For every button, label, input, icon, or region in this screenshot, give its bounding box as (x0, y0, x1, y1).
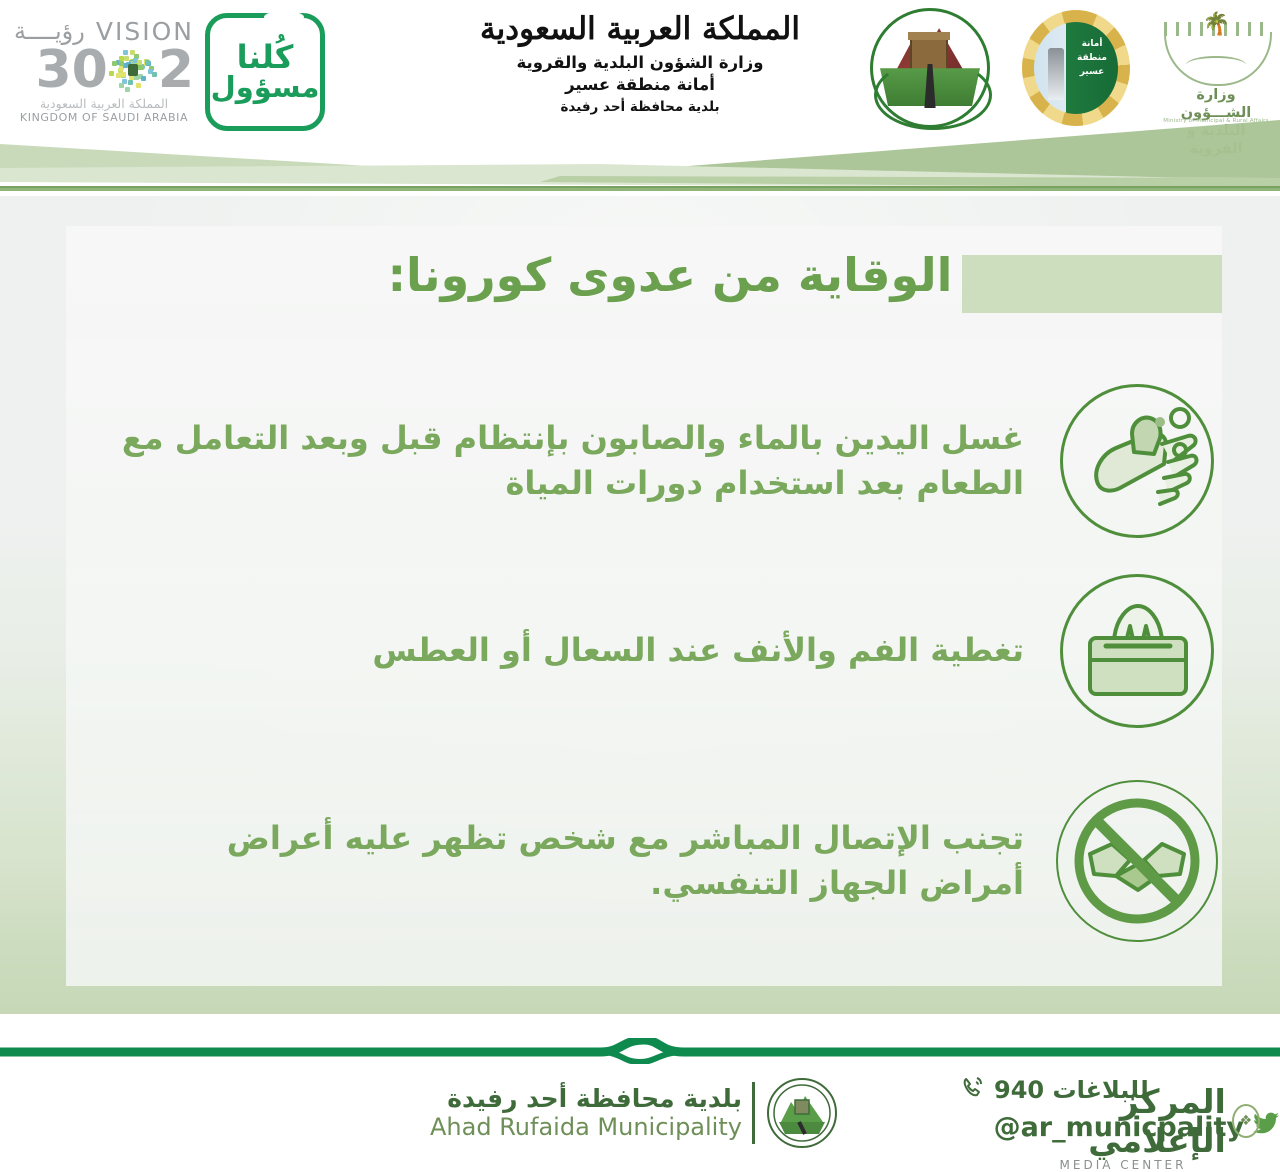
footer: للبلاغات 940 @ar_municpality (0, 1064, 1280, 1164)
vision-2030-logo: VISION رؤيــــة 2 30 المملكة العربية الس… (14, 14, 194, 130)
page-title: الوقاية من عدوى كورونا: (120, 248, 1220, 302)
vision-digit-2: 2 (158, 44, 194, 96)
media-center-badge-icon: ❖ (1232, 1104, 1260, 1138)
badge-line-1: كُلنا (237, 42, 294, 72)
vision-dots-emblem (109, 47, 157, 93)
badge-line-2: مسؤول (211, 73, 320, 102)
footer-crest-icon (765, 1076, 839, 1150)
responsibility-badge: كُلنا مسؤول (205, 13, 325, 131)
tip-item-1: غسل اليدين بالماء والصابون بإنتظام قبل و… (115, 378, 1220, 544)
footer-municipality-en: Ahad Rufaida Municipality (430, 1114, 742, 1142)
municipality-name: بلدية محافظة أحد رفيدة (440, 99, 840, 115)
footer-divider-line (752, 1082, 755, 1144)
footer-municipality-ar: بلدية محافظة أحد رفيدة (430, 1085, 742, 1114)
footer-divider (0, 1038, 1280, 1064)
no-handshake-icon (1054, 778, 1220, 944)
media-center-en: MEDIA CENTER (1020, 1158, 1260, 1172)
tissue-box-icon (1054, 568, 1220, 734)
ministry-logo-icon: 🌴 وزارة الشـــؤون البلدية و القروية Mini… (1160, 14, 1272, 126)
footer-media-center: ❖ المركز الإعلامي MEDIA CENTER (1020, 1082, 1260, 1172)
aseer-region-emblem-icon: أمانة منطقة عسير ⚔ (1018, 6, 1134, 130)
palm-tree-icon: 🌴 (1204, 12, 1230, 38)
emblem-group: أمانة منطقة عسير ⚔ 🌴 وزارة الشـــؤون الب… (870, 6, 1270, 134)
tip-text-1: غسل اليدين بالماء والصابون بإنتظام قبل و… (115, 416, 1054, 507)
header-wave-decoration (0, 120, 1280, 196)
ministry-text-block: المملكة العربية السعودية وزارة الشؤون ال… (440, 12, 840, 115)
aseer-emblem-text: أمانة منطقة عسير (1070, 38, 1114, 80)
tip-item-2: تغطية الفم والأنف عند السعال أو العطس (115, 568, 1220, 734)
tip-text-3: تجنب الإتصال المباشر مع شخص تظهر عليه أع… (115, 816, 1054, 907)
kingdom-calligraphy: المملكة العربية السعودية (440, 12, 840, 46)
footer-municipality: بلدية محافظة أحد رفيدة Ahad Rufaida Muni… (430, 1076, 900, 1150)
phone-ring-icon (960, 1074, 986, 1106)
badge-notch (264, 11, 304, 23)
ministry-name: وزارة الشؤون البلدية والقروية (440, 53, 840, 72)
region-name: أمانة منطقة عسير (440, 75, 840, 94)
tip-item-3: تجنب الإتصال المباشر مع شخص تظهر عليه أع… (115, 778, 1220, 944)
tip-text-2: تغطية الفم والأنف عند السعال أو العطس (372, 628, 1054, 673)
vision-digit-30: 30 (35, 44, 107, 96)
saudi-emblem-icon: ⚔ (1056, 8, 1096, 24)
handwashing-icon (1054, 378, 1220, 544)
ahad-rufaida-crest-icon (870, 8, 990, 128)
media-center-ar: المركز الإعلامي (1020, 1082, 1226, 1160)
vision-subtitle-ar: المملكة العربية السعودية (14, 96, 194, 111)
header: VISION رؤيــــة 2 30 المملكة العربية الس… (0, 0, 1280, 196)
